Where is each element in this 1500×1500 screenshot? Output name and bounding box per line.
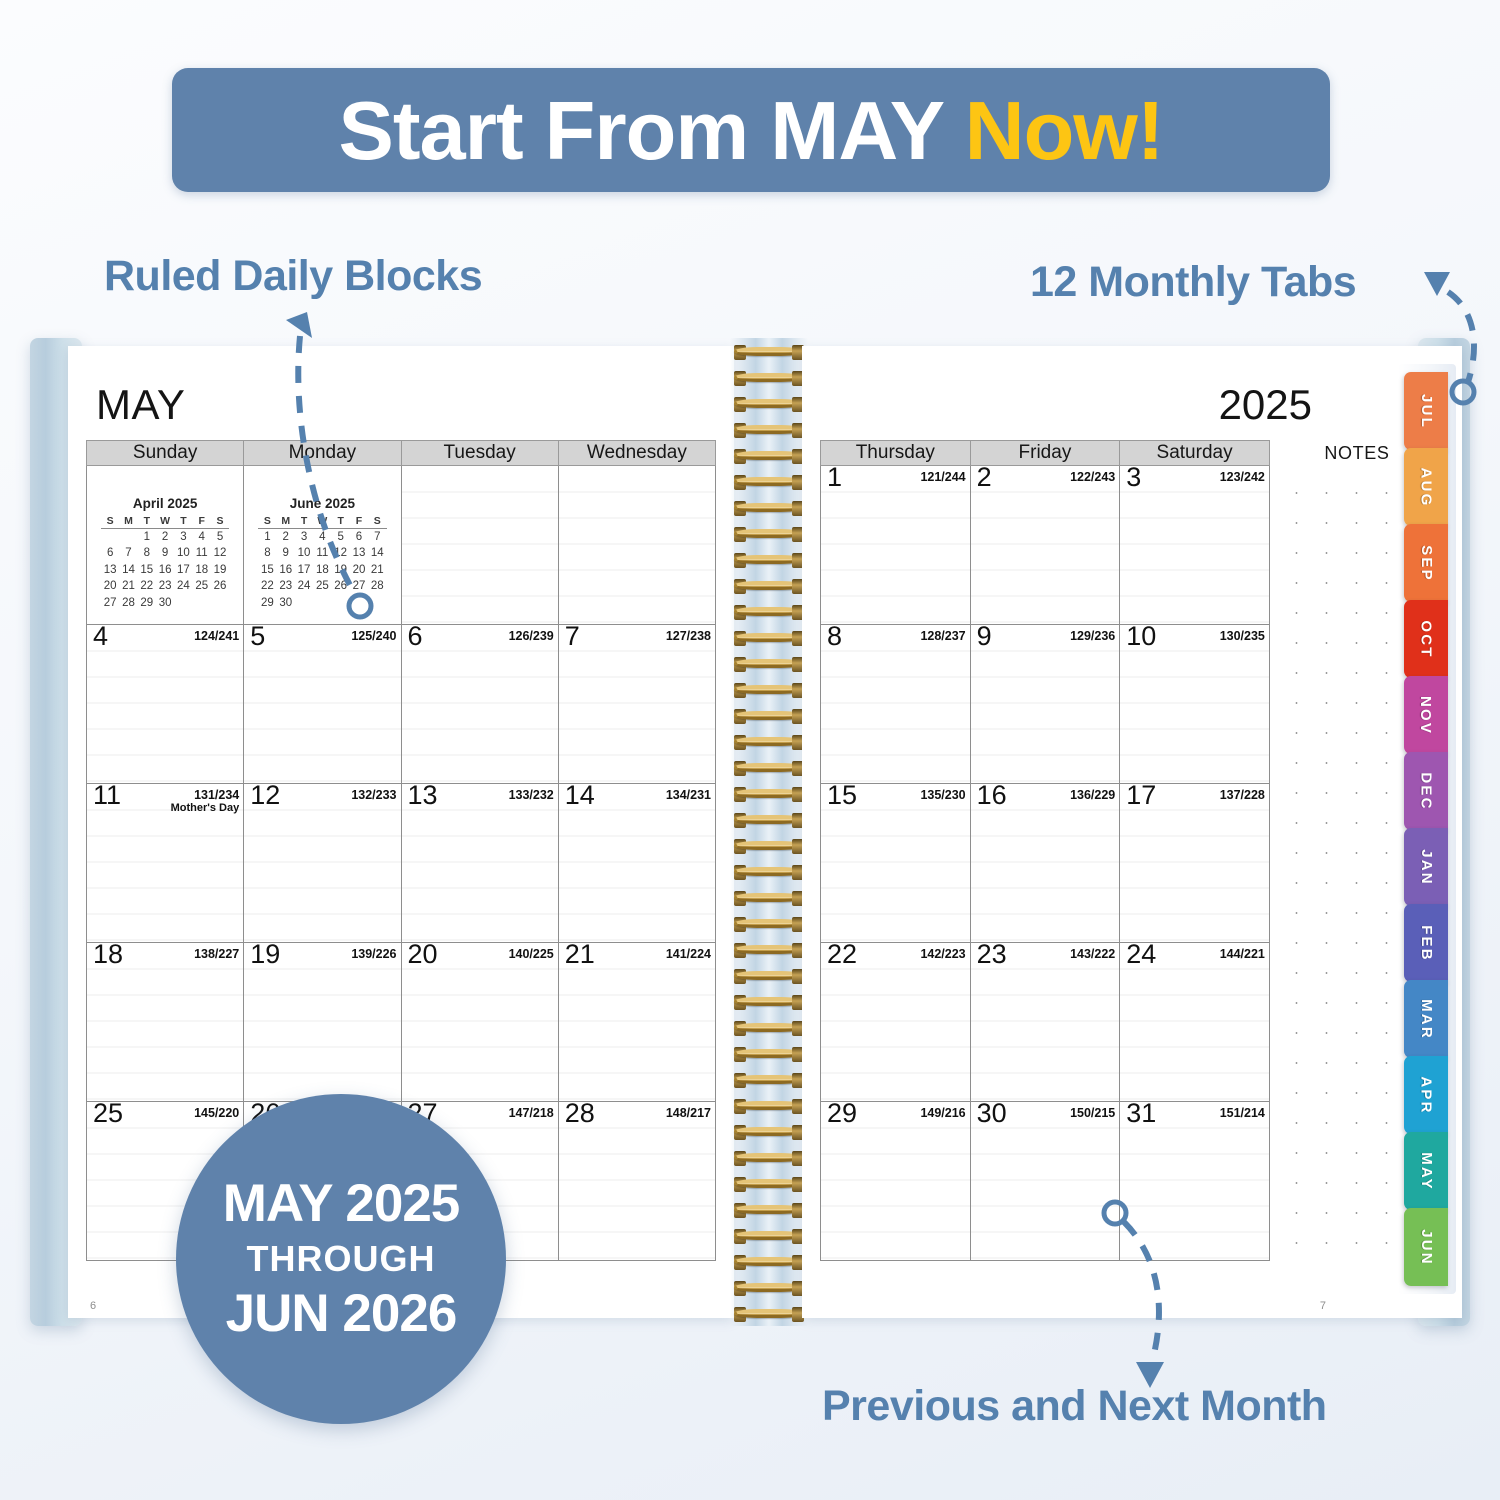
spiral-coil [734,682,804,699]
month-tab-label: FEB [1417,925,1434,962]
spiral-coil [734,760,804,777]
weekday-header-tuesday: Tuesday [401,441,558,466]
spiral-coil [734,656,804,673]
month-title: MAY [86,368,716,426]
day-cell[interactable]: 20140/225 [401,943,558,1102]
mini-day-cell [368,595,386,612]
date-range-badge: MAY 2025 THROUGH JUN 2026 [176,1094,506,1424]
day-cell[interactable]: April 2025SMTWTFS12345678910111213141516… [87,466,244,625]
mini-day-cell: 15 [138,562,156,579]
mini-week-row: 1234567 [258,529,386,546]
month-tab-label: JUL [1418,394,1435,429]
day-cell[interactable] [558,466,715,625]
day-cell[interactable]: 4124/241 [87,625,244,784]
day-number: 10 [1126,623,1156,650]
spiral-coil [734,370,804,387]
day-cell[interactable]: 6126/239 [401,625,558,784]
mini-week-row: 22232425262728 [258,579,386,596]
mini-day-cell: 4 [193,529,211,546]
mini-day-cell: 6 [101,546,119,563]
mini-day-cell: 24 [295,579,313,596]
mini-weekday-header: F [193,515,211,529]
day-cell[interactable]: 12132/233 [244,784,401,943]
spiral-coil [734,1020,804,1037]
promo-banner-text: Start From MAY Now! [339,89,1164,172]
day-of-year-fraction: 135/230 [920,788,965,802]
mini-day-cell: 11 [313,546,331,563]
mini-week-row: 13141516171819 [101,562,229,579]
month-tab-mar[interactable]: MAR [1404,980,1448,1058]
day-of-year-fraction: 130/235 [1220,629,1265,643]
day-number: 28 [565,1100,595,1127]
mini-calendar-title: April 2025 [101,496,229,511]
spiral-coil [734,604,804,621]
spiral-coil [734,500,804,517]
day-number: 30 [977,1100,1007,1127]
mini-week-row: 12345 [101,529,229,546]
day-cell[interactable]: 17137/228 [1120,784,1270,943]
badge-line-2: THROUGH [247,1232,436,1286]
day-of-year-fraction: 121/244 [920,470,965,484]
mini-day-cell: 26 [332,579,350,596]
day-number: 20 [408,941,438,968]
month-tab-nov[interactable]: NOV [1404,676,1448,754]
month-tab-feb[interactable]: FEB [1404,904,1448,982]
day-cell[interactable]: 9129/236 [970,625,1120,784]
spiral-coil [734,1202,804,1219]
day-of-year-fraction: 137/228 [1220,788,1265,802]
mini-day-cell: 16 [156,562,174,579]
mini-weekday-header: T [174,515,192,529]
mini-day-cell [119,529,137,546]
spiral-coil [734,1228,804,1245]
arrow-head-tabs [1424,272,1450,296]
spiral-coil [734,1306,804,1323]
mini-day-cell: 16 [277,562,295,579]
mini-day-cell: 14 [368,546,386,563]
spiral-coil [734,1046,804,1063]
mini-day-cell [101,529,119,546]
day-of-year-fraction: 127/238 [666,629,711,643]
mini-weekday-header: W [313,515,331,529]
weekday-header-friday: Friday [970,441,1120,466]
mini-day-cell: 17 [295,562,313,579]
day-number: 21 [565,941,595,968]
spiral-coil [734,916,804,933]
promo-banner-accent: Now! [965,84,1164,177]
day-cell[interactable]: 7127/238 [558,625,715,784]
day-number: 24 [1126,941,1156,968]
weekday-header-saturday: Saturday [1120,441,1270,466]
mini-day-cell: 8 [138,546,156,563]
mini-day-cell [193,595,211,612]
day-of-year-fraction: 151/214 [1220,1106,1265,1120]
callout-monthly-tabs-label: 12 Monthly Tabs [1030,258,1356,306]
spiral-coil [734,448,804,465]
spiral-coil [734,474,804,491]
mini-day-cell: 7 [368,529,386,546]
day-of-year-fraction: 139/226 [351,947,396,961]
mini-day-cell: 29 [258,595,276,612]
weekday-header-thursday: Thursday [821,441,971,466]
day-of-year-fraction: 145/220 [194,1106,239,1120]
day-number: 2 [977,464,992,491]
mini-calendar-next-month: June 2025SMTWTFS123456789101112131415161… [244,466,400,612]
day-cell[interactable]: 14134/231 [558,784,715,943]
mini-day-cell [211,595,229,612]
day-of-year-fraction: 141/224 [666,947,711,961]
mini-weekday-header: F [350,515,368,529]
month-tab-sep[interactable]: SEP [1404,524,1448,602]
mini-calendar-grid: SMTWTFS123456789101112131415161718192021… [258,515,386,612]
day-cell[interactable]: 2122/243 [970,466,1120,625]
page-number-left: 6 [90,1300,96,1312]
mini-weekday-header: T [138,515,156,529]
calendar-week-row: 4124/2415125/2406126/2397127/238 [87,625,716,784]
mini-weekday-header: M [119,515,137,529]
month-tab-label: AUG [1418,467,1435,507]
day-of-year-fraction: 123/242 [1220,470,1265,484]
day-number: 17 [1126,782,1156,809]
mini-day-cell: 1 [138,529,156,546]
mini-day-cell: 12 [211,546,229,563]
day-of-year-fraction: 122/243 [1070,470,1115,484]
mini-day-cell: 19 [332,562,350,579]
mini-day-cell: 3 [295,529,313,546]
day-of-year-fraction: 134/231 [666,788,711,802]
spiral-coil [734,344,804,361]
day-cell[interactable]: 1121/244 [821,466,971,625]
callout-ruled-daily-blocks: Ruled Daily Blocks [104,252,482,301]
calendar-week-row: 11131/234Mother's Day12132/23313133/2321… [87,784,716,943]
mini-day-cell: 10 [295,546,313,563]
spiral-coil [734,578,804,595]
day-cell[interactable] [401,466,558,625]
mini-day-cell: 30 [156,595,174,612]
day-number: 25 [93,1100,123,1127]
mini-day-cell: 8 [258,546,276,563]
day-of-year-fraction: 142/223 [920,947,965,961]
mini-day-cell: 12 [332,546,350,563]
mini-day-cell [350,595,368,612]
mini-day-cell: 24 [174,579,192,596]
day-number: 13 [408,782,438,809]
day-cell[interactable]: 13133/232 [401,784,558,943]
mini-day-cell: 1 [258,529,276,546]
day-of-year-fraction: 124/241 [194,629,239,643]
day-number: 19 [250,941,280,968]
month-tab-aug[interactable]: AUG [1404,448,1448,526]
mini-day-cell: 30 [277,595,295,612]
mini-day-cell: 5 [211,529,229,546]
mini-day-cell: 14 [119,562,137,579]
mini-day-cell [332,595,350,612]
mini-week-row: 15161718192021 [258,562,386,579]
day-number: 22 [827,941,857,968]
spiral-coil [734,812,804,829]
mini-day-cell: 9 [277,546,295,563]
mini-day-cell: 28 [119,595,137,612]
spiral-coil [734,994,804,1011]
spiral-coil [734,1150,804,1167]
mini-day-cell [295,595,313,612]
mini-day-cell: 3 [174,529,192,546]
day-number: 9 [977,623,992,650]
day-of-year-fraction: 132/233 [351,788,396,802]
day-cell[interactable]: 11131/234Mother's Day [87,784,244,943]
mini-weekday-header: T [332,515,350,529]
spiral-coil [734,838,804,855]
callout-monthly-tabs: 12 Monthly Tabs [1030,258,1356,307]
spiral-coil [734,1254,804,1271]
month-tab-label: APR [1418,1076,1435,1114]
month-tab-jan[interactable]: JAN [1404,828,1448,906]
calendar-grid-right: ThursdayFridaySaturdayNOTES 1121/2442122… [820,440,1444,1261]
calendar-week-row: 18138/22719139/22620140/22521141/224 [87,943,716,1102]
mini-day-cell: 13 [101,562,119,579]
day-number: 11 [93,782,121,809]
mini-week-row: 20212223242526 [101,579,229,596]
day-of-year-fraction: 128/237 [920,629,965,643]
day-cell[interactable]: 30150/215 [970,1102,1120,1261]
month-tab-label: DEC [1418,772,1435,810]
mini-day-cell: 19 [211,562,229,579]
day-number: 15 [827,782,857,809]
mini-day-cell: 15 [258,562,276,579]
badge-line-1: MAY 2025 [223,1176,460,1232]
day-number: 16 [977,782,1007,809]
mini-calendar-previous-month: April 2025SMTWTFS12345678910111213141516… [87,466,243,612]
mini-day-cell: 26 [211,579,229,596]
mini-weekday-header: S [211,515,229,529]
callout-previous-next-month: Previous and Next Month [822,1382,1327,1431]
day-number: 14 [565,782,595,809]
day-of-year-fraction: 150/215 [1070,1106,1115,1120]
mini-day-cell: 2 [277,529,295,546]
mini-day-cell: 23 [277,579,295,596]
day-of-year-fraction: 129/236 [1070,629,1115,643]
day-cell[interactable]: 19139/226 [244,943,401,1102]
spiral-coil [734,1072,804,1089]
mini-day-cell: 7 [119,546,137,563]
mini-day-cell: 5 [332,529,350,546]
month-tab-label: SEP [1418,545,1435,582]
spiral-coil [734,396,804,413]
spiral-coil [734,526,804,543]
mini-day-cell: 18 [193,562,211,579]
mini-day-cell: 22 [138,579,156,596]
day-cell[interactable]: 15135/230 [821,784,971,943]
mini-day-cell: 23 [156,579,174,596]
month-tab-strip[interactable]: JULAUGSEPOCTNOVDECJANFEBMARAPRMAYJUN [1404,372,1448,1284]
day-number: 18 [93,941,123,968]
day-number: 23 [977,941,1007,968]
day-cell[interactable]: June 2025SMTWTFS123456789101112131415161… [244,466,401,625]
mini-weekday-header: M [277,515,295,529]
page-number-right: 7 [1320,1300,1326,1312]
month-tab-dec[interactable]: DEC [1404,752,1448,830]
mini-weekday-header: T [295,515,313,529]
spiral-coil [734,786,804,803]
day-number: 1 [827,464,842,491]
day-cell[interactable]: 29149/216 [821,1102,971,1261]
weekday-header-monday: Monday [244,441,401,466]
month-tab-label: MAR [1417,999,1434,1040]
day-number: 31 [1126,1100,1156,1127]
day-cell[interactable]: 3123/242 [1120,466,1270,625]
mini-day-cell: 27 [350,579,368,596]
spiral-coil [734,890,804,907]
day-of-year-fraction: 149/216 [920,1106,965,1120]
month-tab-label: MAY [1418,1152,1435,1191]
mini-day-cell: 21 [368,562,386,579]
day-cell[interactable]: 5125/240 [244,625,401,784]
month-tab-label: NOV [1417,695,1434,734]
mini-day-cell: 11 [193,546,211,563]
month-tab-apr[interactable]: APR [1404,1056,1448,1134]
planner-right-page: 2025 ThursdayFridaySaturdayNOTES 1121/24… [802,346,1462,1318]
promo-banner-main: Start From MAY [339,84,965,177]
calendar-week-row: 1121/2442122/2433123/242 [821,466,1445,625]
day-cell[interactable]: 24144/221 [1120,943,1270,1102]
mini-weekday-header: W [156,515,174,529]
day-number: 6 [408,623,423,650]
day-cell[interactable]: 31151/214 [1120,1102,1270,1261]
mini-day-cell [313,595,331,612]
spiral-coil [734,734,804,751]
day-of-year-fraction: 144/221 [1220,947,1265,961]
weekday-header-wednesday: Wednesday [558,441,715,466]
month-tab-label: JUN [1417,1229,1434,1266]
month-tab-oct[interactable]: OCT [1404,600,1448,678]
mini-day-cell: 27 [101,595,119,612]
arrow-head-ruled [286,312,312,338]
month-tab-may[interactable]: MAY [1404,1132,1448,1210]
mini-week-row: 27282930 [101,595,229,612]
day-of-year-fraction: 136/229 [1070,788,1115,802]
day-number: 7 [565,623,580,650]
day-number: 5 [250,623,265,650]
spiral-coil [734,864,804,881]
day-cell[interactable]: 21141/224 [558,943,715,1102]
mini-week-row: 2930 [258,595,386,612]
mini-day-cell: 28 [368,579,386,596]
spiral-coil [734,968,804,985]
mini-day-cell: 18 [313,562,331,579]
mini-day-cell: 6 [350,529,368,546]
day-number: 12 [250,782,280,809]
weekday-header-sunday: Sunday [87,441,244,466]
day-cell[interactable]: 22142/223 [821,943,971,1102]
mini-day-cell: 4 [313,529,331,546]
mini-day-cell: 20 [101,579,119,596]
mini-day-cell: 17 [174,562,192,579]
day-of-year-fraction: 147/218 [509,1106,554,1120]
mini-week-row: 6789101112 [101,546,229,563]
day-number: 29 [827,1100,857,1127]
promo-banner: Start From MAY Now! [172,68,1330,192]
mini-day-cell [174,595,192,612]
holiday-label: Mother's Day [171,802,240,815]
mini-day-cell: 2 [156,529,174,546]
day-cell[interactable]: 28148/217 [558,1102,715,1261]
spiral-coil [734,422,804,439]
badge-line-3: JUN 2026 [226,1286,457,1342]
mini-day-cell: 22 [258,579,276,596]
day-of-year-fraction: 143/222 [1070,947,1115,961]
mini-weekday-header: S [258,515,276,529]
day-number: 3 [1126,464,1141,491]
day-cell[interactable]: 10130/235 [1120,625,1270,784]
spiral-coil [734,708,804,725]
day-of-year-fraction: 138/227 [194,947,239,961]
spiral-coil [734,1176,804,1193]
day-of-year-fraction: 125/240 [351,629,396,643]
mini-day-cell: 25 [193,579,211,596]
mini-calendar-grid: SMTWTFS123456789101112131415161718192021… [101,515,229,612]
day-of-year-fraction: 148/217 [666,1106,711,1120]
mini-weekday-header: S [101,515,119,529]
mini-day-cell: 29 [138,595,156,612]
day-of-year-fraction: 140/225 [509,947,554,961]
spiral-coil [734,630,804,647]
spiral-coil [734,942,804,959]
mini-week-row: 891011121314 [258,546,386,563]
day-cell[interactable]: 18138/227 [87,943,244,1102]
day-of-year-fraction: 133/232 [509,788,554,802]
month-tab-label: OCT [1417,620,1434,658]
month-tab-jun[interactable]: JUN [1404,1208,1448,1286]
calendar-week-row: April 2025SMTWTFS12345678910111213141516… [87,466,716,625]
mini-day-cell: 20 [350,562,368,579]
day-of-year-fraction: 126/239 [509,629,554,643]
year-title: 2025 [820,368,1444,426]
day-number: 4 [93,623,108,650]
mini-day-cell: 21 [119,579,137,596]
mini-calendar-title: June 2025 [258,496,386,511]
mini-day-cell: 25 [313,579,331,596]
day-number: 8 [827,623,842,650]
month-tab-jul[interactable]: JUL [1404,372,1448,450]
month-tab-label: JAN [1417,849,1434,886]
spiral-binding [730,338,808,1326]
mini-day-cell: 13 [350,546,368,563]
mini-weekday-header: S [368,515,386,529]
spiral-coil [734,1124,804,1141]
spiral-coil [734,1098,804,1115]
mini-day-cell: 9 [156,546,174,563]
spiral-coil [734,1280,804,1297]
spiral-coil [734,552,804,569]
mini-day-cell: 10 [174,546,192,563]
day-cell[interactable]: 23143/222 [970,943,1120,1102]
day-of-year-fraction: 131/234Mother's Day [171,788,240,815]
day-cell[interactable]: 8128/237 [821,625,971,784]
day-cell[interactable]: 16136/229 [970,784,1120,943]
